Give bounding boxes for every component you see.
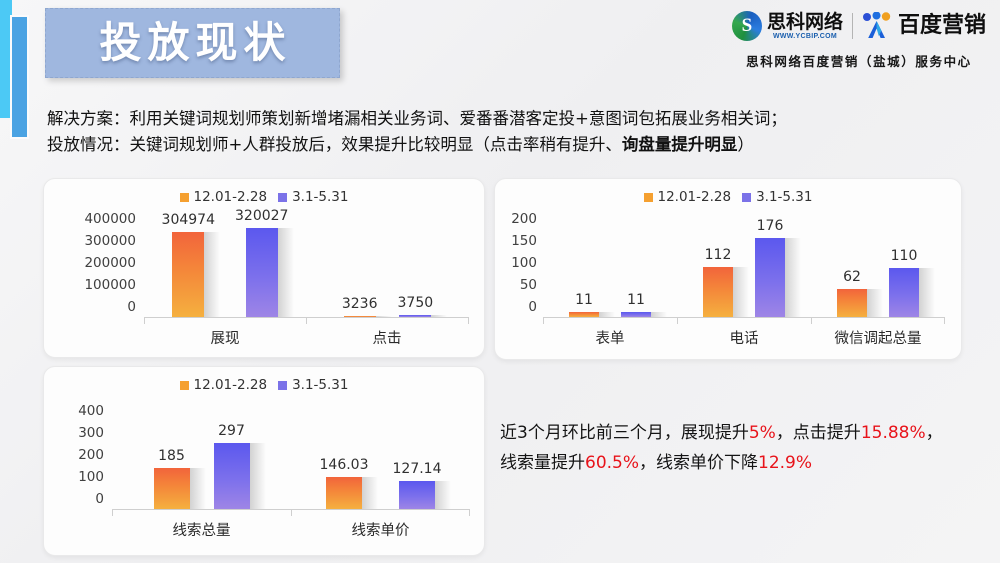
chart3-ytick-1: 300: [44, 425, 104, 441]
chart2-legend-label-2: 3.1-5.31: [756, 189, 812, 205]
chart2-ytick-4: 0: [495, 299, 537, 315]
chart1-xtick-1: 点击: [306, 327, 468, 348]
chart2-bar-1-2[interactable]: 110: [889, 205, 919, 317]
chart1-plot: 400000 300000 200000 100000 0 304974 320…: [44, 205, 484, 353]
chart2-bar-groups: 11 11 112 176: [543, 205, 945, 317]
chart2-legend: 12.01-2.28 3.1-5.31: [495, 179, 961, 205]
chart2-bar-0-2[interactable]: 62: [837, 205, 867, 317]
page-title-box: 投放现状: [45, 8, 340, 78]
brand-logo-block: S 思科网络 WWW.YCBIP.COM 百度营销 思科网络百度营销（盐城）服务…: [732, 6, 986, 70]
chart3-group-0: 185 297: [112, 397, 291, 509]
chart2-value-1-1: 176: [757, 218, 784, 234]
chart3-bar-0-0[interactable]: 185: [154, 397, 190, 509]
sike-logo-icon: S: [732, 11, 762, 41]
solution-label: 解决方案：: [47, 109, 130, 128]
chart3-legend-item-1: 12.01-2.28: [180, 377, 268, 393]
chart3-legend: 12.01-2.28 3.1-5.31: [44, 367, 484, 393]
chart2-xtick-1: 电话: [677, 327, 811, 348]
baidu-brand-name: 百度营销: [898, 15, 986, 37]
chart1-bar-1-0[interactable]: 320027: [235, 205, 288, 317]
intro-text: 解决方案：利用关键词规划师策划新增堵漏相关业务词、爱番番潜客定投+意图词包拓展业…: [47, 106, 952, 158]
chart3-tick-mid: [291, 509, 292, 516]
chart1-value-0-1: 3236: [342, 296, 378, 312]
chart1-value-0-0: 304974: [162, 212, 215, 228]
chart1-legend: 12.01-2.28 3.1-5.31: [44, 179, 484, 205]
summary-value-leads: 60.5%: [585, 453, 639, 473]
chart1-legend-label-1: 12.01-2.28: [194, 189, 268, 205]
chart3-legend-label-2: 3.1-5.31: [292, 377, 348, 393]
chart1-xtick-0: 展现: [144, 327, 306, 348]
chart1-legend-label-2: 3.1-5.31: [292, 189, 348, 205]
chart3-tick-left: [112, 509, 113, 516]
logo-divider: [852, 13, 853, 39]
chart2-bar-1-0[interactable]: 11: [621, 205, 651, 317]
chart2-value-0-2: 62: [843, 269, 861, 285]
chart3-value-0-1: 146.03: [320, 457, 369, 473]
chart1-group-0: 304974 320027: [144, 205, 306, 317]
sike-website-url: WWW.YCBIP.COM: [767, 33, 843, 40]
chart2-legend-item-1: 12.01-2.28: [644, 189, 732, 205]
legend-swatch-orange-icon: [180, 381, 189, 390]
chart3-xtick-0: 线索总量: [112, 519, 291, 540]
chart3-bar-1-0[interactable]: 297: [214, 397, 250, 509]
decorative-bar-blue: [12, 17, 27, 137]
chart1-ytick-0: 400000: [54, 211, 136, 227]
summary-value-impressions: 5%: [749, 423, 776, 443]
legend-swatch-purple-icon: [742, 193, 751, 202]
summary-part-1: 近3个月环比前三个月，展现提升: [500, 423, 749, 443]
chart1-legend-item-2: 3.1-5.31: [278, 189, 348, 205]
chart-card-leads-channels: 12.01-2.28 3.1-5.31 200 150 100 50 0 11 …: [494, 178, 962, 360]
chart2-plot: 200 150 100 50 0 11 11: [495, 205, 961, 355]
chart1-bar-0-0[interactable]: 304974: [162, 205, 215, 317]
chart3-value-1-1: 127.14: [393, 461, 442, 477]
summary-text: 近3个月环比前三个月，展现提升5%，点击提升15.88%，线索量提升60.5%，…: [500, 418, 952, 478]
service-center-subtitle: 思科网络百度营销（盐城）服务中心: [732, 51, 986, 70]
chart3-value-0-0: 185: [158, 448, 185, 464]
chart3-xtick-1: 线索单价: [291, 519, 470, 540]
summary-value-lead-price: 12.9%: [758, 453, 812, 473]
chart-card-lead-total-price: 12.01-2.28 3.1-5.31 400 300 200 100 0 18…: [43, 366, 485, 556]
chart1-bar-groups: 304974 320027 3236 3750: [144, 205, 469, 317]
chart2-group-1: 112 176: [677, 205, 811, 317]
chart3-ytick-2: 200: [44, 447, 104, 463]
legend-swatch-orange-icon: [644, 193, 653, 202]
chart2-bar-0-0[interactable]: 11: [569, 205, 599, 317]
chart3-bar-1-1[interactable]: 127.14: [393, 397, 442, 509]
chart2-x-axis: [543, 317, 945, 318]
chart2-ytick-1: 150: [495, 233, 537, 249]
baidu-logo-icon: [862, 12, 892, 40]
delivery-text-a: 关键词规划师+人群投放后，效果提升比较明显（点击率稍有提升、: [130, 135, 622, 154]
chart3-bar-0-1[interactable]: 146.03: [320, 397, 369, 509]
chart2-xtick-2: 微信调起总量: [811, 327, 945, 348]
chart2-ytick-2: 100: [495, 255, 537, 271]
chart3-ytick-0: 400: [44, 403, 104, 419]
chart3-tick-right: [469, 509, 470, 516]
chart3-plot: 400 300 200 100 0 185 297: [44, 393, 484, 551]
chart1-tick-mid: [306, 317, 307, 324]
delivery-text-bold: 询盘量提升明显: [622, 135, 738, 154]
chart1-bar-0-1[interactable]: 3236: [342, 205, 378, 317]
chart1-legend-item-1: 12.01-2.28: [180, 189, 268, 205]
sike-brand: S 思科网络 WWW.YCBIP.COM: [732, 11, 843, 41]
chart2-xtick-0: 表单: [543, 327, 677, 348]
chart2-legend-item-2: 3.1-5.31: [742, 189, 812, 205]
chart1-ytick-3: 100000: [54, 277, 136, 293]
chart3-ytick-3: 100: [44, 469, 104, 485]
chart2-tick-1: [677, 317, 678, 324]
page-title: 投放现状: [93, 22, 291, 64]
solution-text: 利用关键词规划师策划新增堵漏相关业务词、爱番番潜客定投+意图词包拓展业务相关词；: [130, 109, 787, 128]
chart2-value-1-2: 110: [891, 248, 918, 264]
legend-swatch-purple-icon: [278, 193, 287, 202]
decorative-bar-cyan: [0, 0, 12, 118]
chart3-ytick-4: 0: [44, 491, 104, 507]
chart2-ytick-3: 50: [495, 277, 537, 293]
summary-value-clicks: 15.88%: [861, 423, 926, 443]
delivery-label: 投放情况：: [47, 135, 130, 154]
chart2-bar-0-1[interactable]: 112: [703, 205, 733, 317]
baidu-brand: 百度营销: [862, 12, 986, 40]
chart1-tick-left: [144, 317, 145, 324]
chart2-bar-1-1[interactable]: 176: [755, 205, 785, 317]
delivery-text-b: ）: [737, 135, 754, 154]
legend-swatch-orange-icon: [180, 193, 189, 202]
legend-swatch-purple-icon: [278, 381, 287, 390]
chart2-group-2: 62 110: [811, 205, 945, 317]
chart2-group-0: 11 11: [543, 205, 677, 317]
intro-line-1: 解决方案：利用关键词规划师策划新增堵漏相关业务词、爱番番潜客定投+意图词包拓展业…: [47, 106, 952, 132]
chart1-ytick-2: 200000: [54, 255, 136, 271]
chart2-value-1-0: 11: [627, 292, 645, 308]
chart2-legend-label-1: 12.01-2.28: [658, 189, 732, 205]
chart2-value-0-1: 112: [705, 247, 732, 263]
chart1-ytick-1: 300000: [54, 233, 136, 249]
chart1-bar-1-1[interactable]: 3750: [398, 205, 434, 317]
summary-part-2: ，点击提升: [776, 423, 861, 443]
chart1-ytick-4: 0: [54, 299, 136, 315]
chart2-tick-3: [944, 317, 945, 324]
chart2-tick-0: [543, 317, 544, 324]
sike-brand-name: 思科网络: [767, 13, 843, 32]
chart3-legend-label-1: 12.01-2.28: [194, 377, 268, 393]
chart1-group-1: 3236 3750: [306, 205, 469, 317]
chart-card-impressions-clicks: 12.01-2.28 3.1-5.31 400000 300000 200000…: [43, 178, 485, 358]
chart2-ytick-0: 200: [495, 211, 537, 227]
chart1-tick-right: [468, 317, 469, 324]
intro-line-2: 投放情况：关键词规划师+人群投放后，效果提升比较明显（点击率稍有提升、询盘量提升…: [47, 132, 952, 158]
chart3-group-1: 146.03 127.14: [291, 397, 470, 509]
chart2-value-0-0: 11: [575, 292, 593, 308]
chart3-value-1-0: 297: [218, 423, 245, 439]
chart2-tick-2: [811, 317, 812, 324]
chart3-bar-groups: 185 297 146.03 127.14: [112, 397, 470, 509]
chart1-value-1-0: 320027: [235, 208, 288, 224]
summary-part-4: ，线索单价下降: [639, 453, 758, 473]
chart1-value-1-1: 3750: [398, 295, 434, 311]
chart3-legend-item-2: 3.1-5.31: [278, 377, 348, 393]
